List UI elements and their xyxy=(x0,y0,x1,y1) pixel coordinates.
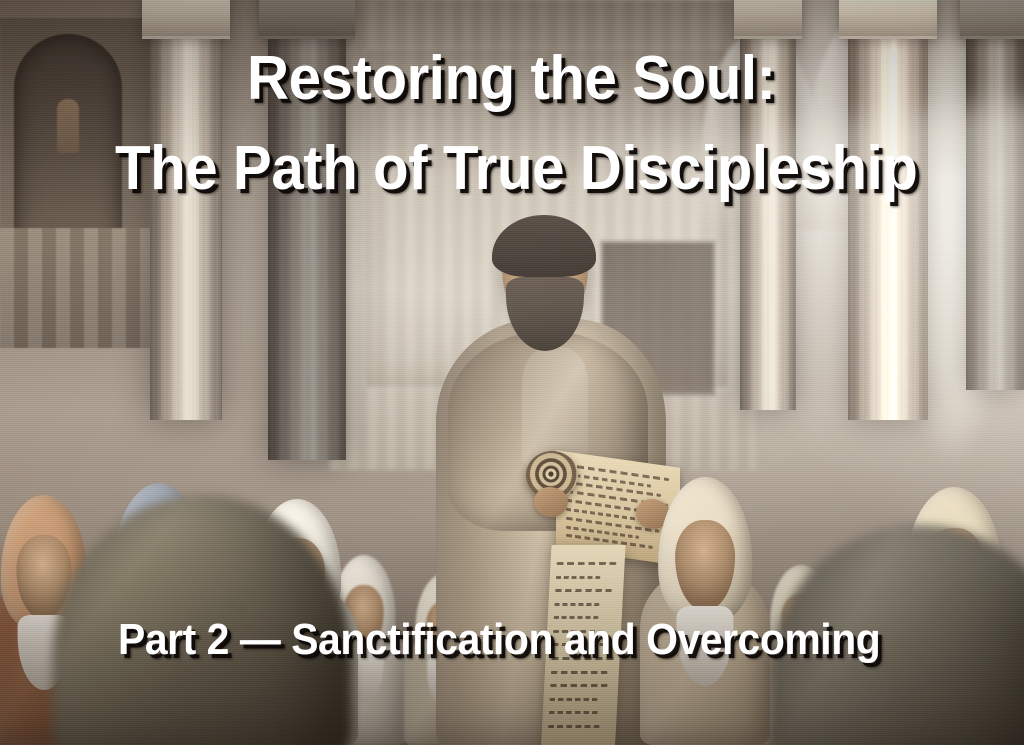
subtitle: Part 2 — Sanctification and Overcoming xyxy=(118,618,880,662)
title-line-1: Restoring the Soul: xyxy=(247,48,776,110)
text-overlay: Restoring the Soul: The Path of True Dis… xyxy=(0,0,1024,745)
title-slide: Restoring the Soul: The Path of True Dis… xyxy=(0,0,1024,745)
title-line-2: The Path of True Discipleship xyxy=(115,138,917,200)
